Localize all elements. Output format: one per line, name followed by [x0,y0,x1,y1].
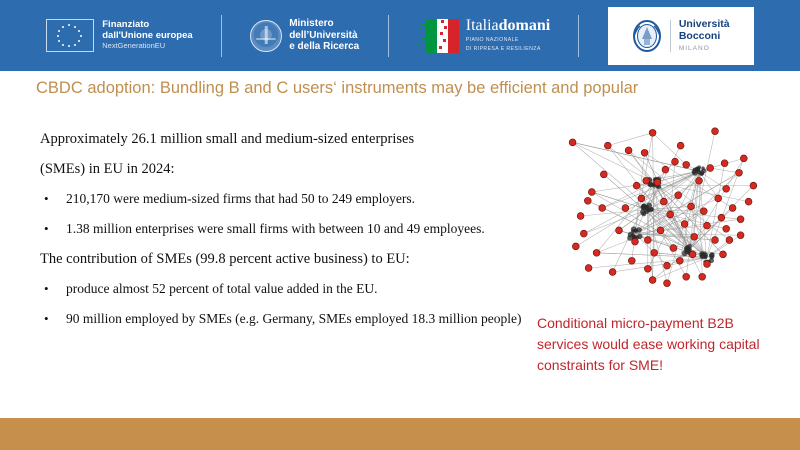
bocconi-line2: Bocconi [679,30,730,42]
bottom-accent-bar [0,418,800,450]
callout-text: Conditional micro-payment B2B services w… [537,313,787,376]
italiadomani-word-light: Italia [466,17,499,34]
bullet-item-3: • produce almost 52 percent of total val… [40,274,530,304]
italiadomani-sub1: PIANO NAZIONALE [466,37,550,44]
ministero-line2: dell’Università [289,30,359,42]
eu-logo-line2: dall'Unione europea [102,31,192,42]
bocconi-crest-icon [632,20,662,52]
bocconi-logo: Università Bocconi MILANO [608,7,754,65]
presentation-slide: Finanziato dall'Unione europea NextGener… [0,0,800,450]
italiadomani-sub2: DI RIPRESA E RESILIENZA [466,46,550,53]
bullet-marker-icon: • [40,214,66,244]
bullet-item-1: • 210,170 were medium-sized firms that h… [40,184,530,214]
network-graph-svg [532,112,794,304]
bocconi-line1: Università [679,18,730,30]
eu-logo-line3: NextGenerationEU [102,42,192,50]
slide-title: CBDC adoption: Bundling B and C users‘ i… [36,79,776,98]
bullet-marker-icon: • [40,274,66,304]
italiadomani-wordmark: Italiadomani [466,18,550,35]
bullet-text-2: 1.38 million enterprises were small firm… [66,214,530,244]
logo-strip: Finanziato dall'Unione europea NextGener… [0,0,800,71]
ministero-line3: e della Ricerca [289,41,359,53]
bullet-text-1: 210,170 were medium-sized firms that had… [66,184,530,214]
slide-body-text: Approximately 26.1 million small and med… [40,124,530,334]
italian-republic-emblem-icon [250,20,282,52]
italiadomani-word-bold: domani [499,17,551,34]
contribution-line: The contribution of SMEs (99.8 percent a… [40,244,530,274]
bocconi-line3: MILANO [679,45,730,52]
eu-flag-icon [46,19,94,52]
bullet-marker-icon: • [40,184,66,214]
bullet-item-4: • 90 million employed by SMEs (e.g. Germ… [40,304,530,334]
bocconi-logo-cell: Università Bocconi MILANO [579,0,782,71]
italian-flag-icon [417,17,459,55]
eu-funding-logo: Finanziato dall'Unione europea NextGener… [18,0,221,71]
bullet-text-4: 90 million employed by SMEs (e.g. German… [66,304,530,334]
bocconi-divider [670,20,671,52]
bullet-text-3: produce almost 52 percent of total value… [66,274,530,304]
bullet-item-2: • 1.38 million enterprises were small fi… [40,214,530,244]
ministero-logo: Ministero dell’Università e della Ricerc… [222,0,388,71]
bullet-marker-icon: • [40,304,66,334]
italiadomani-logo: Italiadomani PIANO NAZIONALE DI RIPRESA … [389,0,579,71]
network-graph-figure [532,112,794,304]
ministero-line1: Ministero [289,18,359,30]
funder-logo-header: Finanziato dall'Unione europea NextGener… [0,0,800,71]
intro-line-2: (SMEs) in EU in 2024: [40,154,530,184]
intro-line-1: Approximately 26.1 million small and med… [40,124,530,154]
